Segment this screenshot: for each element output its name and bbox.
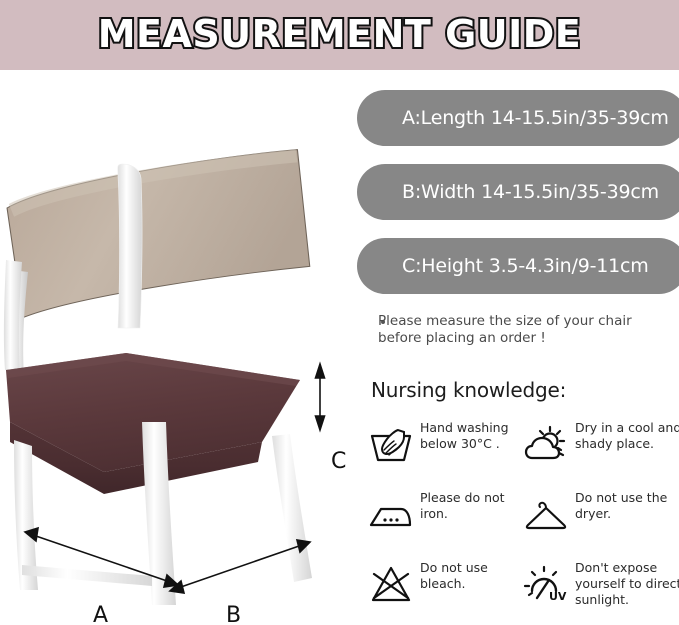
care-item-dry-shade: Dry in a cool and shady place.: [521, 420, 676, 478]
measurement-pill-a: A:Length 14-15.5in/35-39cm: [357, 90, 679, 146]
dimension-label-c: C: [331, 449, 346, 474]
dimension-label-a: A: [93, 603, 108, 625]
page-title: MEASUREMENT GUIDE: [0, 11, 679, 57]
care-row: Please do not iron. Do not use the dryer…: [366, 490, 676, 552]
care-text: Do not use the dryer.: [575, 490, 679, 522]
care-item-no-bleach: Do not use bleach.: [366, 560, 521, 618]
care-item-no-iron: Please do not iron.: [366, 490, 521, 548]
svg-text:UV: UV: [549, 590, 567, 603]
measurement-label-c: C:Height 3.5-4.3in/9-11cm: [402, 255, 649, 277]
measurement-label-a: A:Length 14-15.5in/35-39cm: [402, 107, 669, 129]
care-item-no-dryer: Do not use the dryer.: [521, 490, 676, 548]
chair-drawing: [0, 70, 357, 625]
care-text: Don't expose yourself to direct sunlight…: [575, 560, 679, 608]
measurement-guide-page: MEASUREMENT GUIDE: [0, 0, 679, 625]
chair-illustration: A B C: [0, 70, 357, 625]
measure-note: Please measure the size of your chair be…: [378, 313, 670, 347]
no-bleach-icon: [368, 562, 414, 604]
no-iron-icon: [368, 492, 414, 534]
dry-shade-icon: [523, 422, 569, 464]
care-text: Do not use bleach.: [420, 560, 520, 592]
no-dryer-icon: [523, 492, 569, 534]
measurement-label-b: B:Width 14-15.5in/35-39cm: [402, 181, 659, 203]
nursing-knowledge-heading: Nursing knowledge:: [371, 378, 566, 402]
care-item-no-uv: UV Don't expose yourself to direct sunli…: [521, 560, 676, 618]
care-text: Dry in a cool and shady place.: [575, 420, 679, 452]
care-text: Hand washing below 30°C .: [420, 420, 520, 452]
hand-wash-icon: [368, 422, 414, 464]
care-row: Hand washing below 30°C . Dry in a co: [366, 420, 676, 482]
no-uv-icon: UV: [523, 562, 569, 604]
measurement-pill-b: B:Width 14-15.5in/35-39cm: [357, 164, 679, 220]
care-item-hand-wash: Hand washing below 30°C .: [366, 420, 521, 478]
care-row: Do not use bleach. UV Don't expose yours: [366, 560, 676, 622]
dimension-label-b: B: [226, 603, 241, 625]
care-text: Please do not iron.: [420, 490, 520, 522]
measurement-pill-c: C:Height 3.5-4.3in/9-11cm: [357, 238, 679, 294]
